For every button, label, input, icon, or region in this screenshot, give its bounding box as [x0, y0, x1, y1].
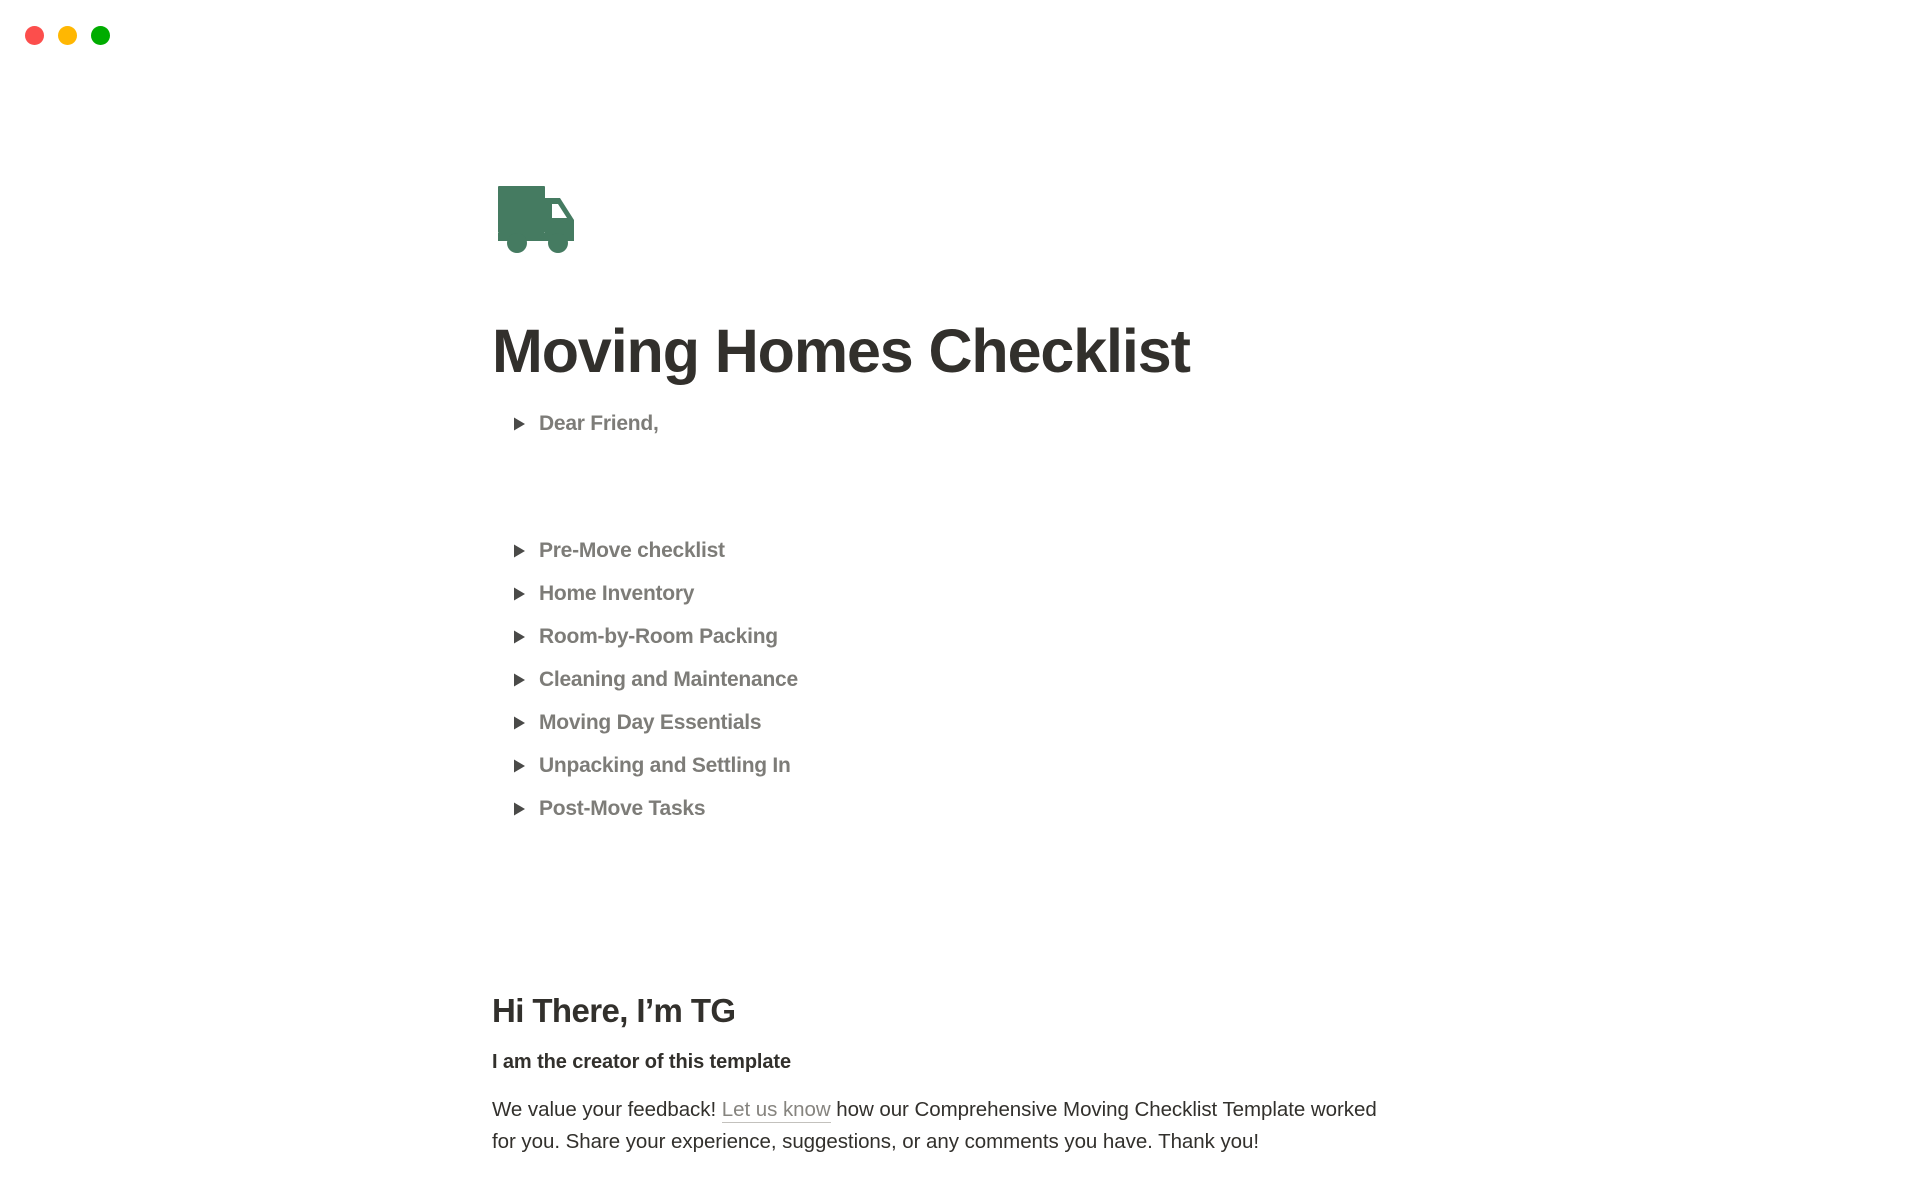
toggle-moving-day-essentials[interactable]: Moving Day Essentials	[506, 707, 761, 739]
toggle-unpacking-and-settling-in[interactable]: Unpacking and Settling In	[506, 750, 791, 782]
triangle-right-icon[interactable]	[506, 667, 532, 693]
toggle-label[interactable]: Room-by-Room Packing	[532, 625, 778, 649]
triangle-right-icon[interactable]	[506, 710, 532, 736]
triangle-right-icon[interactable]	[506, 753, 532, 779]
toggle-label[interactable]: Home Inventory	[532, 582, 694, 606]
paragraph-text-before-link: We value your feedback!	[492, 1098, 722, 1121]
let-us-know-link[interactable]: Let us know	[722, 1098, 831, 1123]
author-section-subheading: I am the creator of this template	[492, 1051, 791, 1074]
feedback-paragraph: We value your feedback! Let us know how …	[492, 1094, 1397, 1158]
toggle-label[interactable]: Unpacking and Settling In	[532, 754, 791, 778]
document-page: Moving Homes Checklist Dear Friend, Pre-…	[0, 0, 1920, 1200]
triangle-right-icon[interactable]	[506, 624, 532, 650]
toggle-cleaning-and-maintenance[interactable]: Cleaning and Maintenance	[506, 664, 798, 696]
triangle-right-icon[interactable]	[506, 538, 532, 564]
toggle-label[interactable]: Pre-Move checklist	[532, 539, 725, 563]
delivery-truck-icon[interactable]	[492, 178, 588, 268]
triangle-right-icon[interactable]	[506, 581, 532, 607]
toggle-home-inventory[interactable]: Home Inventory	[506, 578, 694, 610]
triangle-right-icon[interactable]	[506, 796, 532, 822]
toggle-label[interactable]: Dear Friend,	[532, 412, 659, 436]
toggle-pre-move-checklist[interactable]: Pre-Move checklist	[506, 535, 725, 567]
toggle-room-by-room-packing[interactable]: Room-by-Room Packing	[506, 621, 778, 653]
author-section-heading: Hi There, I’m TG	[492, 992, 735, 1030]
toggle-label[interactable]: Cleaning and Maintenance	[532, 668, 798, 692]
triangle-right-icon[interactable]	[506, 411, 532, 437]
toggle-label[interactable]: Moving Day Essentials	[532, 711, 761, 735]
toggle-post-move-tasks[interactable]: Post-Move Tasks	[506, 793, 705, 825]
toggle-dear-friend[interactable]: Dear Friend,	[506, 408, 659, 440]
toggle-label[interactable]: Post-Move Tasks	[532, 797, 705, 821]
page-title: Moving Homes Checklist	[492, 318, 1190, 385]
